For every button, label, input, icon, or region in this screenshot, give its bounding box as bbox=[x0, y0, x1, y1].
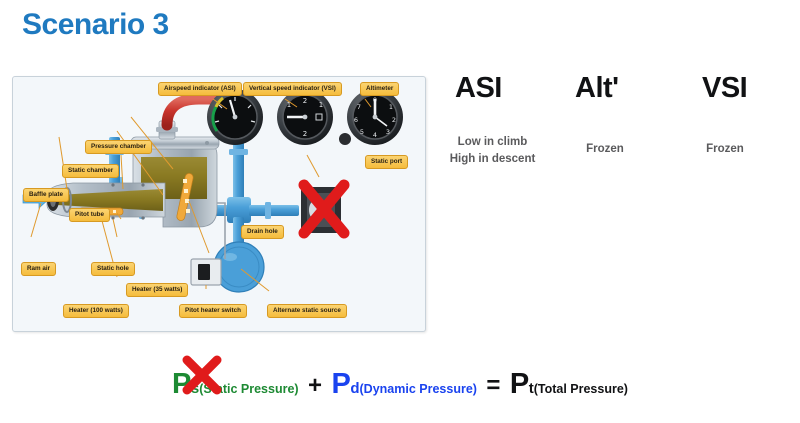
slide: Scenario 3 bbox=[0, 0, 800, 423]
instrument-airspeed-indicator bbox=[207, 89, 263, 145]
callout-static-port: Static port bbox=[365, 155, 408, 169]
callout-vsi: Vertical speed indicator (VSI) bbox=[243, 82, 342, 96]
callout-pitot-heater-switch: Pitot heater switch bbox=[179, 304, 247, 318]
callout-baffle-plate: Baffle plate bbox=[23, 188, 69, 202]
dynamic-symbol: P bbox=[332, 368, 351, 400]
callout-alternate-static: Alternate static source bbox=[267, 304, 347, 318]
pressure-equation: Ps(Static Pressure) + Pd(Dynamic Pressur… bbox=[0, 368, 800, 401]
pitot-static-system-diagram: 22 11 012 345 67 bbox=[12, 76, 426, 332]
dynamic-subscript: d bbox=[350, 380, 359, 397]
callout-heater-35w: Heater (35 watts) bbox=[126, 283, 188, 297]
svg-text:1: 1 bbox=[389, 103, 393, 111]
svg-text:7: 7 bbox=[357, 103, 361, 111]
svg-text:4: 4 bbox=[373, 131, 377, 139]
instrument-vertical-speed-indicator: 22 11 bbox=[277, 89, 333, 145]
callout-pressure-chamber: Pressure chamber bbox=[85, 140, 152, 154]
column-header-vsi: VSI bbox=[702, 72, 747, 105]
pitot-heater-switch bbox=[191, 259, 221, 285]
callout-heater-100w: Heater (100 watts) bbox=[63, 304, 129, 318]
diagram-artwork: 22 11 012 345 67 bbox=[13, 77, 425, 331]
svg-text:2: 2 bbox=[392, 116, 396, 124]
callout-static-hole: Static hole bbox=[91, 262, 135, 276]
svg-text:3: 3 bbox=[386, 128, 390, 136]
instrument-altimeter: 012 345 67 bbox=[339, 89, 403, 145]
total-name: (Total Pressure) bbox=[534, 382, 628, 396]
equation-term-dynamic: Pd(Dynamic Pressure) bbox=[332, 368, 477, 401]
equation-equals: = bbox=[481, 372, 505, 399]
svg-text:1: 1 bbox=[319, 101, 323, 109]
callout-drain-hole: Drain hole bbox=[241, 225, 284, 239]
svg-text:2: 2 bbox=[303, 130, 307, 138]
callout-pitot-tube: Pitot tube bbox=[69, 208, 110, 222]
column-header-asi: ASI bbox=[455, 72, 502, 105]
static-name: (Static Pressure) bbox=[199, 382, 298, 396]
callout-static-chamber: Static chamber bbox=[62, 164, 119, 178]
svg-text:2: 2 bbox=[303, 97, 307, 105]
callout-altimeter: Altimeter bbox=[360, 82, 399, 96]
column-header-alt: Alt' bbox=[575, 72, 619, 105]
equation-term-static: Ps(Static Pressure) bbox=[172, 368, 299, 401]
static-subscript: s bbox=[191, 380, 199, 397]
svg-text:5: 5 bbox=[360, 128, 364, 136]
callout-ram-air: Ram air bbox=[21, 262, 56, 276]
equation-term-total: Pt(Total Pressure) bbox=[510, 368, 628, 401]
page-title: Scenario 3 bbox=[22, 8, 169, 42]
total-symbol: P bbox=[510, 368, 529, 400]
dynamic-name: (Dynamic Pressure) bbox=[360, 382, 477, 396]
column-status-asi: Low in climbHigh in descent bbox=[425, 134, 560, 167]
callout-airspeed-indicator: Airspeed indicator (ASI) bbox=[158, 82, 242, 96]
column-status-alt: Frozen bbox=[560, 141, 650, 158]
static-symbol: P bbox=[172, 368, 191, 400]
svg-text:6: 6 bbox=[354, 116, 358, 124]
column-status-vsi: Frozen bbox=[680, 141, 770, 158]
equation-plus: + bbox=[303, 372, 327, 399]
